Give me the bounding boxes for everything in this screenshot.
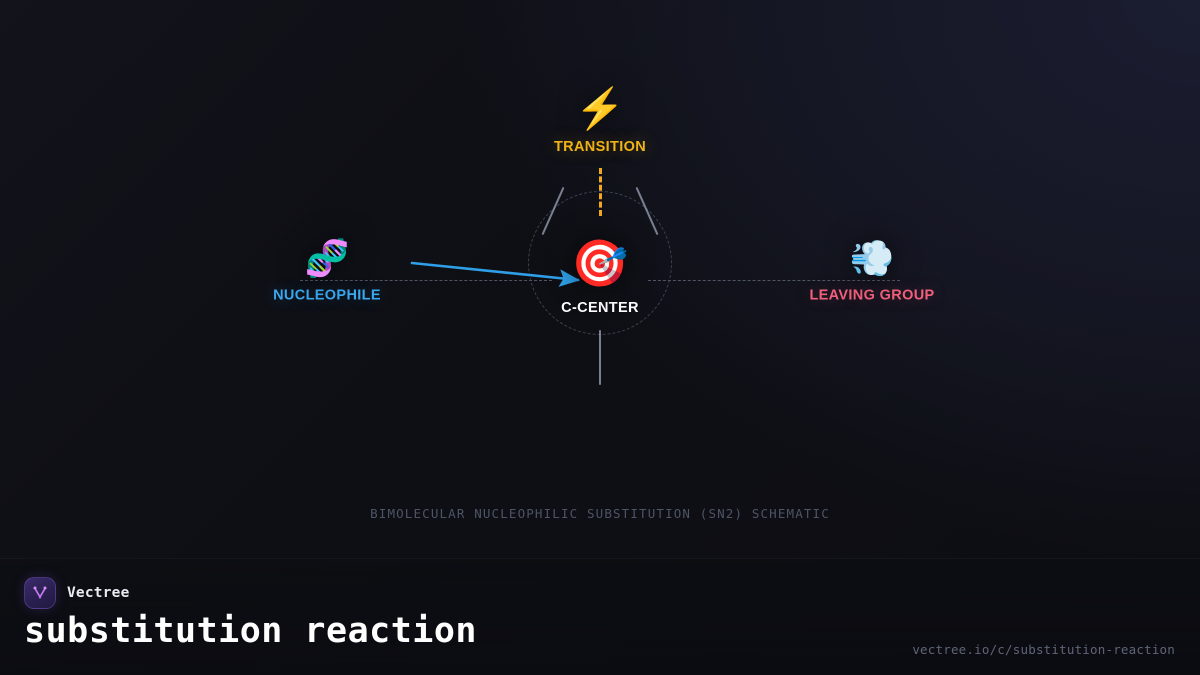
node-leaving-group-label: LEAVING GROUP <box>809 288 934 304</box>
high-voltage-icon: ⚡ <box>575 89 625 129</box>
page-url: vectree.io/c/substitution-reaction <box>912 642 1175 657</box>
node-transition-label: TRANSITION <box>554 139 646 155</box>
screenshot-root: ⚡ TRANSITION 🧬 NUCLEOPHILE 🎯 C-CENTER 💨 … <box>0 0 1200 675</box>
branch-glyph <box>30 583 50 603</box>
page-title: substitution reaction <box>24 611 477 651</box>
dna-icon: 🧬 <box>305 241 350 277</box>
diagram-caption: BIMOLECULAR NUCLEOPHILIC SUBSTITUTION (S… <box>0 506 1200 521</box>
node-c-center-label: C-CENTER <box>561 300 639 316</box>
node-transition[interactable]: ⚡ TRANSITION <box>554 89 646 155</box>
node-nucleophile[interactable]: 🧬 NUCLEOPHILE <box>273 241 381 304</box>
node-leaving-group[interactable]: 💨 LEAVING GROUP <box>809 241 934 304</box>
dash-cloud-icon: 💨 <box>850 241 895 277</box>
target-icon: 🎯 <box>571 240 628 286</box>
node-c-center[interactable]: 🎯 C-CENTER <box>561 240 639 316</box>
vectree-logo-icon <box>24 577 56 609</box>
node-nucleophile-label: NUCLEOPHILE <box>273 288 381 304</box>
footer-bar: Vectree substitution reaction vectree.io… <box>0 558 1200 675</box>
brand-row[interactable]: Vectree <box>24 577 130 609</box>
brand-name: Vectree <box>67 585 130 601</box>
